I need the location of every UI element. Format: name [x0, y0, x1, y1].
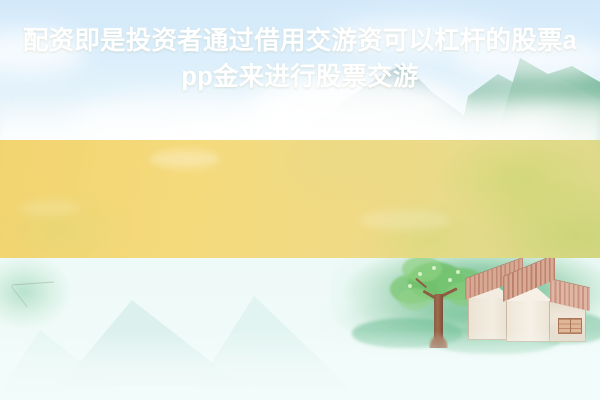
leaf-highlight	[418, 272, 422, 276]
leaf-highlight	[456, 270, 460, 274]
leaf-highlight	[408, 284, 412, 288]
headline-line-1: 配资即是投资者通过借用交游资可以杠杆的股票a	[23, 23, 577, 59]
headline-band	[0, 140, 600, 258]
tree-trunk	[434, 294, 443, 348]
headline-line-2: pp金来进行股票交游	[181, 59, 418, 95]
house-window	[558, 318, 582, 334]
headline-text: 配资即是投资者通过借用交游资可以杠杆的股票a pp金来进行股票交游	[0, 0, 600, 118]
tree-foliage	[402, 256, 442, 282]
house	[466, 274, 588, 350]
house-window-mullion	[570, 319, 571, 333]
leaf-highlight	[448, 278, 452, 282]
house-front-wall	[506, 300, 550, 342]
band-highlight	[360, 210, 450, 230]
promo-banner: 配资即是投资者通过借用交游资可以杠杆的股票a pp金来进行股票交游	[0, 0, 600, 400]
left-foliage	[0, 248, 98, 348]
band-highlight	[150, 150, 220, 168]
leaf-highlight	[432, 266, 436, 270]
band-highlight	[20, 200, 80, 216]
house-back-wall	[468, 296, 510, 340]
